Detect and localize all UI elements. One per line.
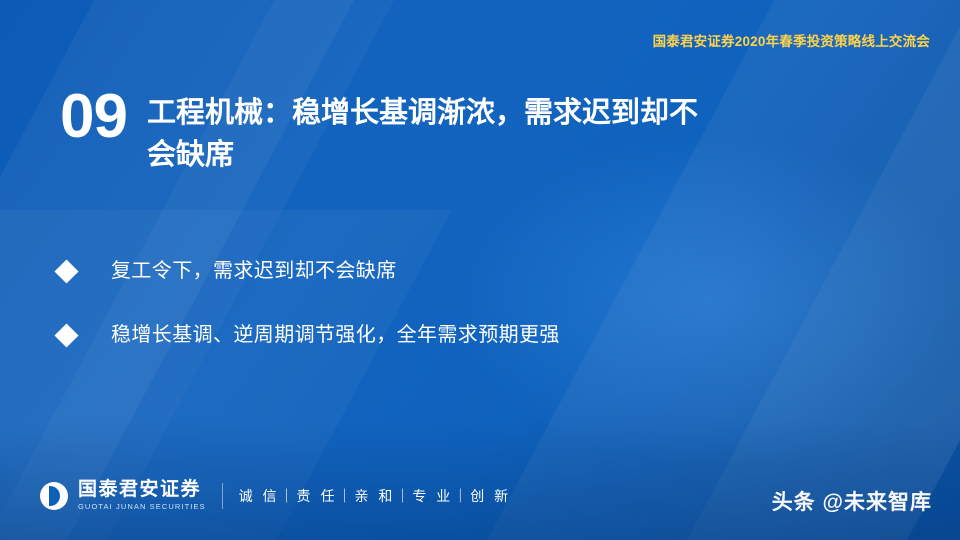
bullet-text: 复工令下，需求迟到却不会缺席 xyxy=(111,258,397,284)
company-slogan: 诚 信｜责 任｜亲 和｜专 业｜创 新 xyxy=(239,486,511,506)
logo-company-name-en: GUOTAI JUNAN SECURITIES xyxy=(78,501,206,512)
footer-logo: 国泰君安证券 GUOTAI JUNAN SECURITIES 诚 信｜责 任｜亲… xyxy=(40,480,511,512)
diamond-bullet-icon xyxy=(54,323,78,347)
bullet-text: 稳增长基调、逆周期调节强化，全年需求预期更强 xyxy=(111,322,560,348)
conference-header-note: 国泰君安证券2020年春季投资策略线上交流会 xyxy=(653,30,930,50)
page-title: 工程机械：稳增长基调渐浓，需求迟到却不会缺席 xyxy=(147,86,707,176)
company-logo-icon xyxy=(40,482,68,510)
logo-company-name-cn: 国泰君安证券 xyxy=(78,480,206,500)
slide-root: 国泰君安证券2020年春季投资策略线上交流会 09 工程机械：稳增长基调渐浓，需… xyxy=(0,0,960,540)
footer-divider xyxy=(222,483,223,509)
logo-text-block: 国泰君安证券 GUOTAI JUNAN SECURITIES xyxy=(78,480,206,512)
watermark: 头条 @未来智库 xyxy=(772,486,932,516)
list-item: 稳增长基调、逆周期调节强化，全年需求预期更强 xyxy=(58,322,818,348)
bullet-list: 复工令下，需求迟到却不会缺席 稳增长基调、逆周期调节强化，全年需求预期更强 xyxy=(58,258,818,386)
list-item: 复工令下，需求迟到却不会缺席 xyxy=(58,258,818,284)
title-block: 09 工程机械：稳增长基调渐浓，需求迟到却不会缺席 xyxy=(60,86,707,176)
chapter-number: 09 xyxy=(60,86,127,148)
diamond-bullet-icon xyxy=(54,259,78,283)
